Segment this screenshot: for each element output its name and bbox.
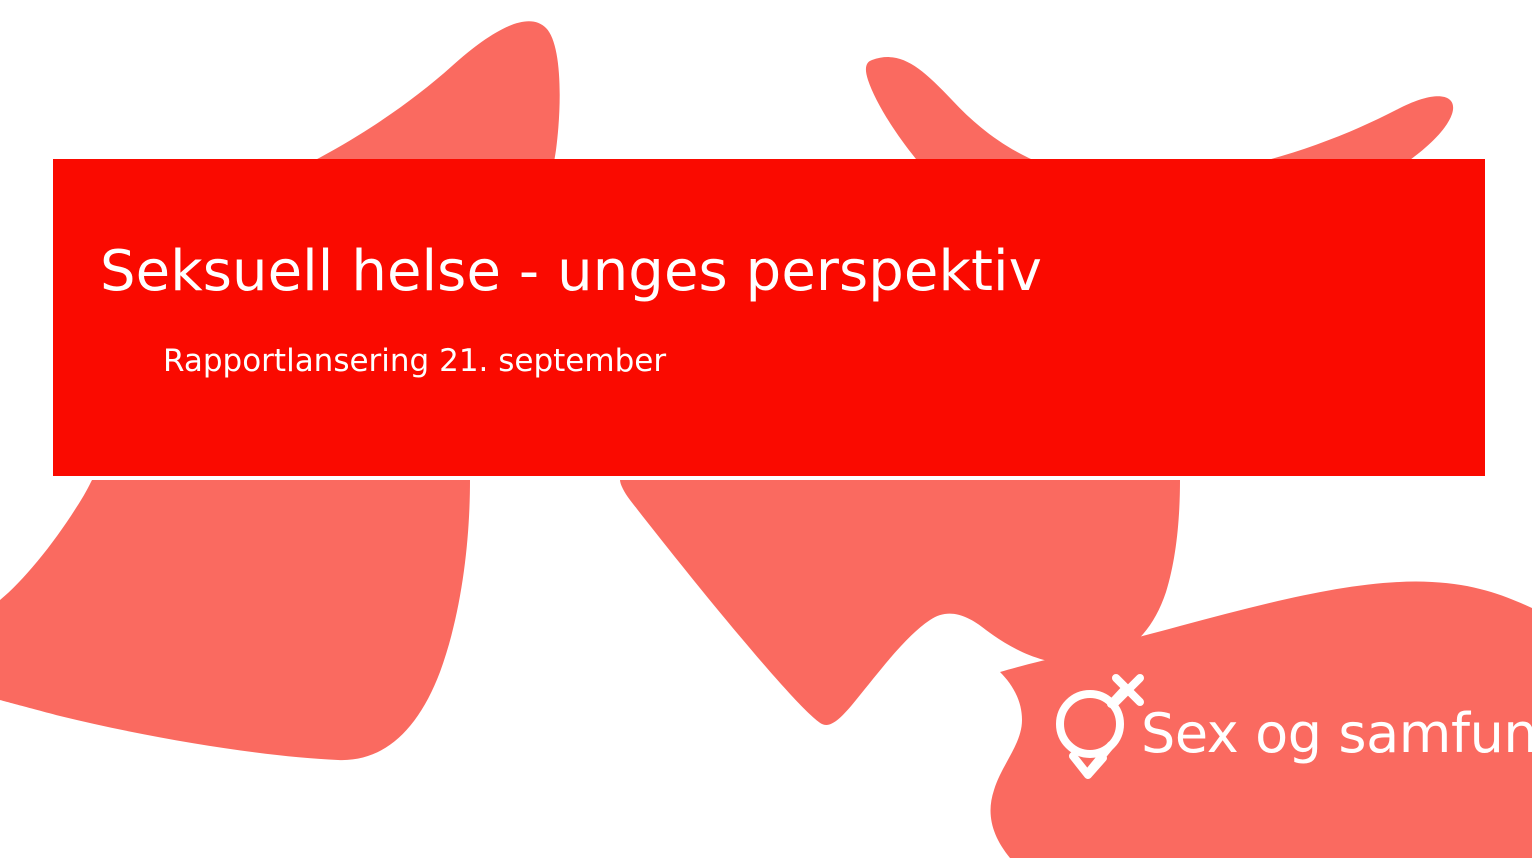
bottom-left-blob-shape xyxy=(0,480,470,760)
logo-lockup: Sex og samfunn xyxy=(1040,668,1532,790)
gender-arrow-head xyxy=(1073,756,1103,775)
title-banner: Seksuell helse - unges perspektiv Rappor… xyxy=(53,159,1485,476)
logo-wordmark: Sex og samfunn xyxy=(1141,707,1532,761)
slide-canvas: Seksuell helse - unges perspektiv Rappor… xyxy=(0,0,1532,858)
slide-subtitle: Rapportlansering 21. september xyxy=(163,344,666,378)
slide-title: Seksuell helse - unges perspektiv xyxy=(100,243,1042,302)
